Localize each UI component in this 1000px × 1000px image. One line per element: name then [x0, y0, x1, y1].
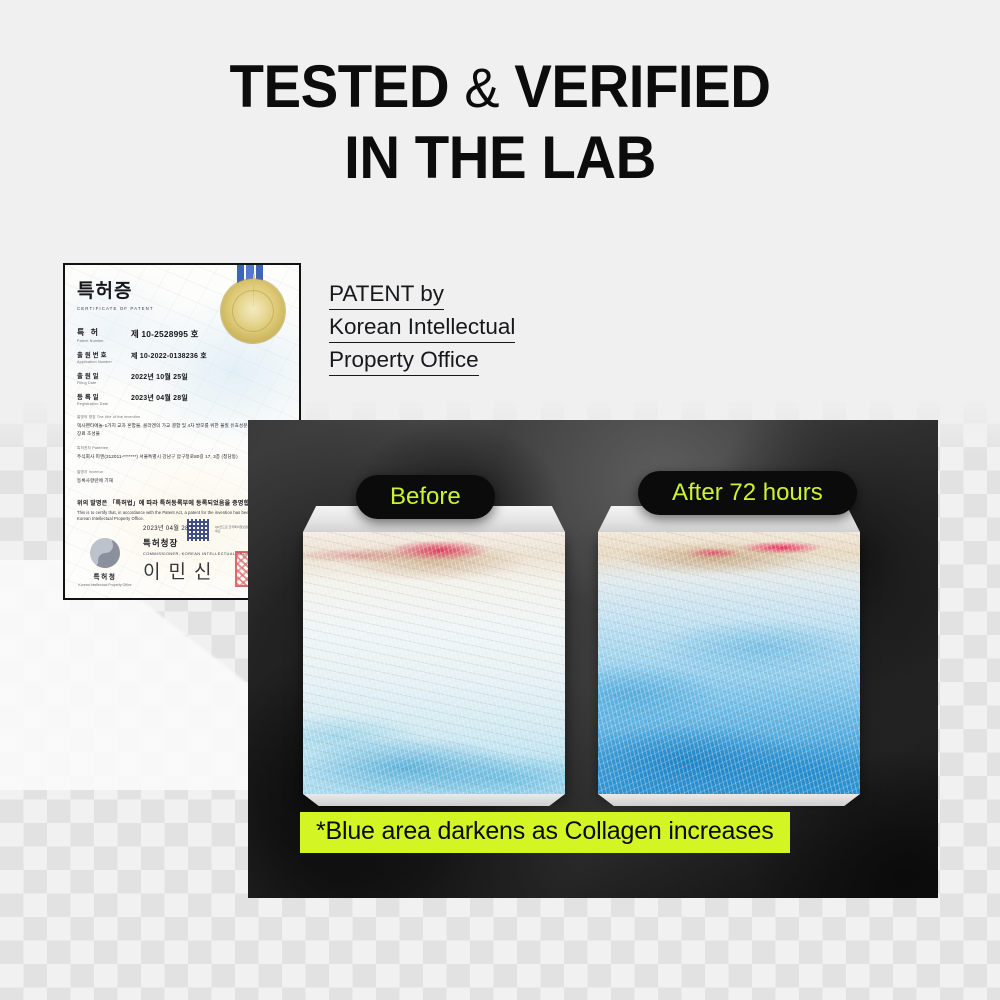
field-label-ko: 특 허 [77, 327, 131, 338]
tissue-sample-before [303, 506, 565, 806]
certificate-field-row: 등록일 Registration Date 2023년 04월 28일 [77, 392, 287, 406]
page-headline: TESTED & VERIFIED IN THE LAB [30, 56, 970, 189]
certificate-title-english: CERTIFICATE OF PATENT [77, 306, 287, 311]
certificate-field-row: 특 허 Patent Number 제 10-2528995 호 [77, 327, 287, 343]
collagen-caption: *Blue area darkens as Collagen increases [300, 812, 790, 853]
field-label-ko: 출원번호 [77, 350, 131, 359]
patent-attribution-text: PATENT by Korean Intellectual Property O… [329, 283, 589, 382]
taegeuk-icon [90, 538, 120, 568]
certificate-fields: 특 허 Patent Number 제 10-2528995 호 출원번호 Ap… [77, 327, 287, 406]
field-value: 제 10-2528995 호 [131, 327, 199, 340]
field-value: 제 10-2022-0138236 호 [131, 350, 207, 361]
headline-line-2: IN THE LAB [30, 127, 970, 189]
label-after: After 72 hours [638, 471, 857, 515]
sample-front-face [303, 532, 565, 794]
certificate-field-row: 출원일 Filing Date 2022년 10월 25일 [77, 371, 287, 385]
histology-image-before [303, 532, 565, 794]
patent-line-3: Property Office [329, 349, 479, 376]
field-label-en: Filing Date [77, 381, 131, 385]
sample-bottom-face [598, 794, 860, 806]
field-label-en: Patent Number [77, 339, 131, 343]
sample-bottom-face [303, 794, 565, 806]
headline-ampersand: & [464, 56, 499, 119]
qr-code-icon [187, 519, 209, 541]
tissue-sample-after [598, 506, 860, 806]
kipo-logo: 특허청 Korean Intellectual Property Office [77, 538, 133, 588]
office-name-english: Korean Intellectual Property Office [77, 583, 133, 588]
field-label-en: Application Number [77, 360, 131, 364]
sample-front-face [598, 532, 860, 794]
patent-line-2: Korean Intellectual [329, 316, 515, 343]
patent-line-1: PATENT by [329, 283, 444, 310]
field-label-ko: 등록일 [77, 392, 131, 401]
headline-word-tested: TESTED [229, 53, 449, 120]
before-after-comparison-photo: Before After 72 hours *Blue area darkens… [248, 420, 938, 898]
certificate-field-row: 출원번호 Application Number 제 10-2022-013823… [77, 350, 287, 364]
headline-word-verified: VERIFIED [514, 53, 770, 120]
office-name-korean: 특허청 [77, 571, 133, 581]
certificate-title-korean: 특허증 [77, 276, 287, 303]
histology-image-after [598, 532, 860, 794]
field-label-en: Registration Date [77, 402, 131, 406]
field-label-ko: 출원일 [77, 371, 131, 380]
field-value: 2022년 10월 25일 [131, 371, 188, 382]
label-before: Before [356, 475, 495, 519]
field-value: 2023년 04월 28일 [131, 392, 188, 403]
